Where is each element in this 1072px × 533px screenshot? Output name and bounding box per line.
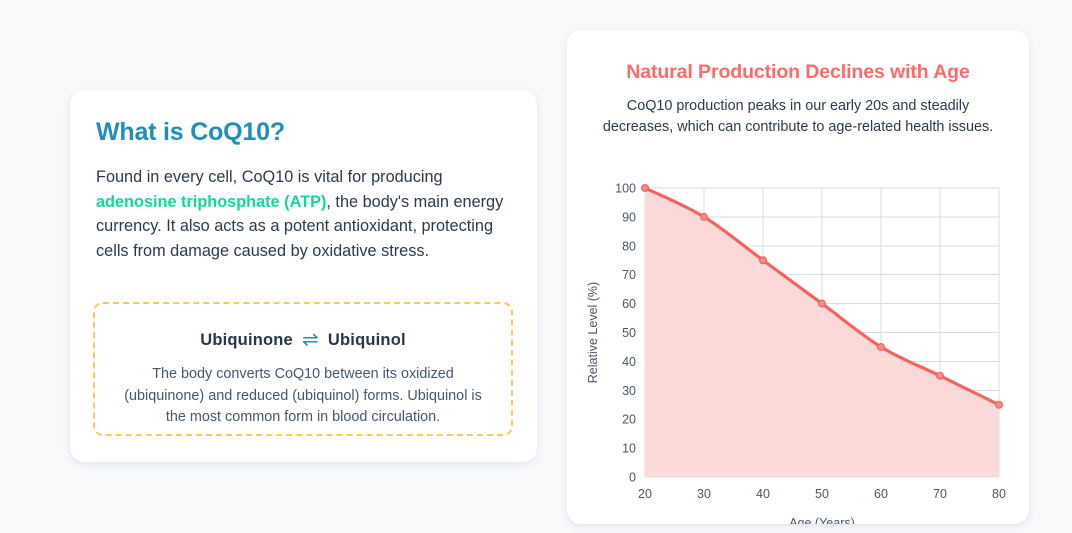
conversion-description: The body converts CoQ10 between its oxid…	[95, 364, 511, 429]
production-decline-line-chart: 0102030405060708090100 20304050607080 Ag…	[567, 153, 1029, 524]
chart-plot-region: 0102030405060708090100 20304050607080 Ag…	[567, 153, 1029, 524]
info-paragraph-part1: Found in every cell, CoQ10 is vital for …	[96, 168, 443, 186]
y-tick-label: 40	[622, 355, 636, 369]
y-tick-label: 0	[629, 471, 636, 485]
y-tick-label: 20	[622, 413, 636, 427]
chart-x-axis-title: Age (Years)	[789, 516, 855, 524]
x-tick-label: 40	[756, 487, 770, 501]
x-tick-label: 80	[992, 487, 1006, 501]
chart-card: Natural Production Declines with Age CoQ…	[567, 30, 1029, 524]
y-tick-label: 30	[622, 384, 636, 398]
atp-highlight: adenosine triphosphate (ATP)	[96, 193, 326, 211]
chart-y-tick-labels: 0102030405060708090100	[615, 182, 636, 485]
equilibrium-arrow-icon: ⇌	[293, 329, 328, 351]
chart-x-tick-labels: 20304050607080	[638, 487, 1006, 501]
y-tick-label: 100	[615, 182, 636, 196]
info-paragraph: Found in every cell, CoQ10 is vital for …	[96, 165, 507, 263]
chart-title: Natural Production Declines with Age	[567, 61, 1029, 84]
ubiquinol-label: Ubiquinol	[328, 331, 406, 349]
y-tick-label: 70	[622, 268, 636, 282]
chart-subtitle: CoQ10 production peaks in our early 20s …	[567, 96, 1029, 137]
y-tick-label: 90	[622, 210, 636, 224]
y-tick-label: 10	[622, 442, 636, 456]
x-tick-label: 50	[815, 487, 829, 501]
page-title: What is CoQ10?	[96, 118, 513, 147]
ubiquinone-ubiquinol-box: Ubiquinone⇌Ubiquinol The body converts C…	[93, 302, 513, 436]
chart-y-axis-title: Relative Level (%)	[586, 282, 600, 383]
conversion-heading: Ubiquinone⇌Ubiquinol	[95, 326, 511, 351]
y-tick-label: 60	[622, 297, 636, 311]
y-tick-label: 50	[622, 326, 636, 340]
x-tick-label: 30	[697, 487, 711, 501]
page-root: What is CoQ10? Found in every cell, CoQ1…	[0, 0, 1072, 533]
x-tick-label: 70	[933, 487, 947, 501]
ubiquinone-label: Ubiquinone	[200, 331, 293, 349]
x-tick-label: 60	[874, 487, 888, 501]
x-tick-label: 20	[638, 487, 652, 501]
y-tick-label: 80	[622, 239, 636, 253]
